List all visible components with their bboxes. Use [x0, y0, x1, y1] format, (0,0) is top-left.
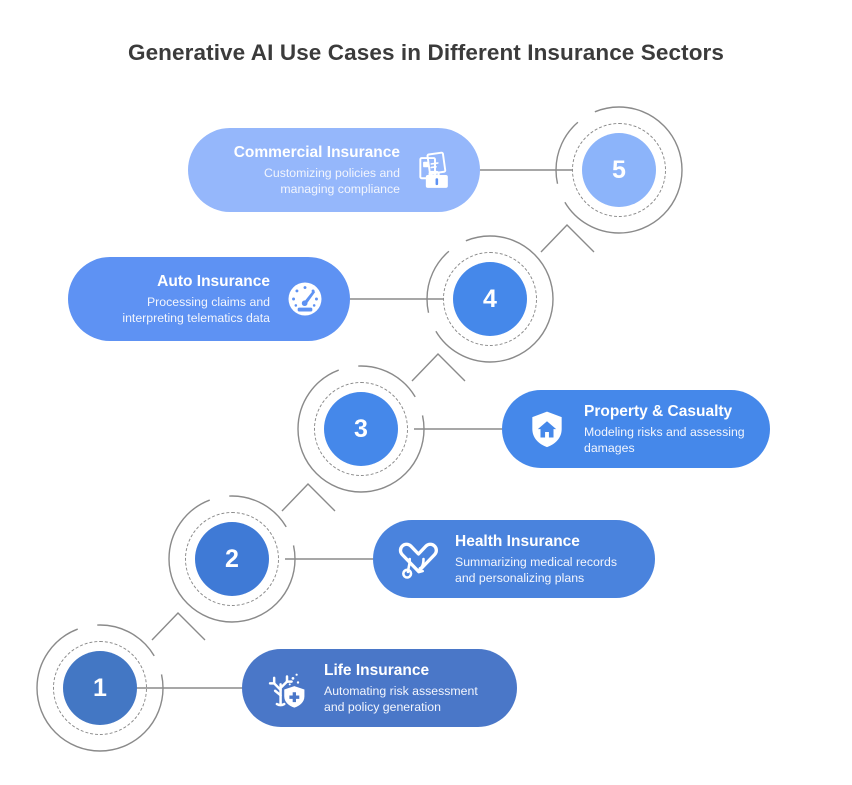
node-number: 2: [225, 547, 239, 572]
briefcase-documents-icon: [412, 147, 458, 193]
card-description: Summarizing medical records and personal…: [455, 554, 633, 586]
tree-shield-cross-icon: [264, 665, 310, 711]
card-property-casualty[interactable]: Property & Casualty Modeling risks and a…: [502, 390, 770, 468]
infographic-canvas: Generative AI Use Cases in Different Ins…: [0, 0, 852, 785]
card-title: Commercial Insurance: [210, 143, 400, 162]
step-node-2[interactable]: 2: [168, 495, 296, 623]
card-description: Customizing policies and managing compli…: [210, 165, 400, 197]
card-title: Health Insurance: [455, 532, 633, 551]
card-title: Auto Insurance: [90, 272, 270, 291]
node-number: 3: [354, 417, 368, 442]
card-description: Automating risk assessment and policy ge…: [324, 683, 495, 715]
step-node-5[interactable]: 5: [555, 106, 683, 234]
card-text-block: Commercial Insurance Customizing policie…: [210, 143, 400, 198]
page-title: Generative AI Use Cases in Different Ins…: [0, 40, 852, 66]
step-node-4[interactable]: 4: [426, 235, 554, 363]
step-node-1[interactable]: 1: [36, 624, 164, 752]
node-disc: 2: [195, 522, 269, 596]
card-text-block: Property & Casualty Modeling risks and a…: [584, 402, 748, 457]
step-node-3[interactable]: 3: [297, 365, 425, 493]
card-description: Modeling risks and assessing damages: [584, 424, 748, 456]
node-number: 1: [93, 676, 107, 701]
card-commercial-insurance[interactable]: Commercial Insurance Customizing policie…: [188, 128, 480, 212]
speedometer-icon: [282, 276, 328, 322]
card-description: Processing claims and interpreting telem…: [90, 294, 270, 326]
card-text-block: Health Insurance Summarizing medical rec…: [455, 532, 633, 587]
node-disc: 1: [63, 651, 137, 725]
card-auto-insurance[interactable]: Auto Insurance Processing claims and int…: [68, 257, 350, 341]
card-life-insurance[interactable]: Life Insurance Automating risk assessmen…: [242, 649, 517, 727]
node-disc: 4: [453, 262, 527, 336]
shield-house-icon: [524, 406, 570, 452]
card-text-block: Life Insurance Automating risk assessmen…: [324, 661, 495, 716]
node-disc: 3: [324, 392, 398, 466]
node-disc: 5: [582, 133, 656, 207]
card-text-block: Auto Insurance Processing claims and int…: [90, 272, 270, 327]
node-number: 5: [612, 158, 626, 183]
card-title: Life Insurance: [324, 661, 495, 680]
card-title: Property & Casualty: [584, 402, 748, 421]
card-health-insurance[interactable]: Health Insurance Summarizing medical rec…: [373, 520, 655, 598]
heart-stethoscope-icon: [395, 536, 441, 582]
node-number: 4: [483, 287, 497, 312]
